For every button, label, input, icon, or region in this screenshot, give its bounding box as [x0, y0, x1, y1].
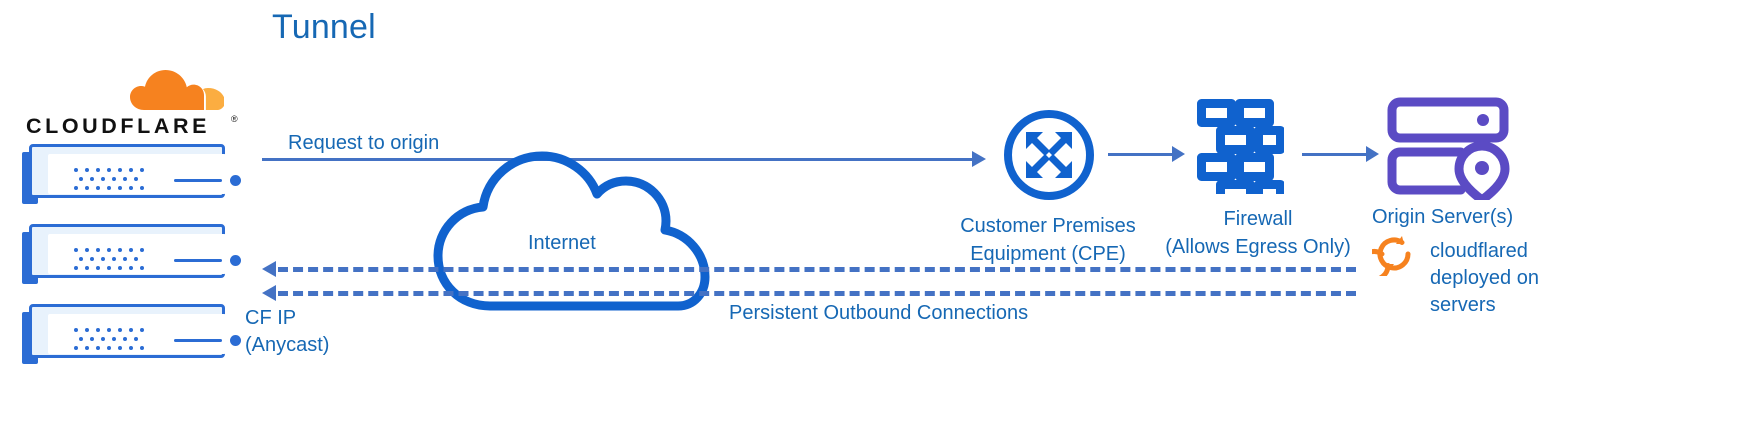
cf-ip-line1: CF IP — [245, 305, 329, 332]
router-status-line — [174, 179, 222, 182]
cloudflare-wordmark: CLOUDFLARE — [26, 114, 210, 139]
router-face — [48, 154, 226, 194]
router-face — [48, 314, 226, 354]
router-led-icon — [230, 175, 241, 186]
cloudflare-logo: CLOUDFLARE ® — [26, 74, 226, 144]
cpe-expand-arrows-icon — [1002, 108, 1096, 202]
router-status-line — [174, 259, 222, 262]
arrow-right-icon — [972, 151, 986, 167]
cf-ip-line2: (Anycast) — [245, 332, 329, 359]
diagram-canvas: Tunnel CLOUDFLARE ® — [0, 0, 1754, 422]
arrow-left-dashed-icon — [262, 285, 276, 301]
request-to-origin-label: Request to origin — [288, 132, 439, 155]
cpe-label: Customer Premises Equipment (CPE) — [948, 212, 1148, 268]
persistent-outbound-connections-label: Persistent Outbound Connections — [729, 302, 1028, 325]
router-body — [29, 144, 225, 198]
internet-cloud-icon — [430, 128, 720, 318]
cloudflared-line3: servers — [1430, 292, 1539, 319]
arrow-left-dashed-icon — [262, 261, 276, 277]
router-vent-dots — [74, 248, 156, 274]
persistent-connection-line — [278, 291, 1356, 296]
router-face — [48, 234, 226, 274]
arrow-right-icon — [1172, 146, 1185, 162]
router-body — [29, 304, 225, 358]
cloudflared-line1: cloudflared — [1430, 238, 1539, 265]
internet-label: Internet — [528, 232, 596, 255]
firewall-label: Firewall (Allows Egress Only) — [1158, 205, 1358, 261]
firewall-to-origin-line — [1302, 153, 1370, 156]
router-device-icon — [22, 224, 227, 282]
origin-server-icon — [1386, 96, 1514, 200]
cloudflare-cloud-icon — [104, 66, 224, 114]
page-title: Tunnel — [272, 8, 376, 47]
router-body — [29, 224, 225, 278]
router-device-icon — [22, 304, 227, 362]
cloudflared-refresh-icon — [1372, 232, 1418, 276]
firewall-label-line2: (Allows Egress Only) — [1158, 233, 1358, 261]
cpe-label-line2: Equipment (CPE) — [948, 240, 1148, 268]
origin-server-label: Origin Server(s) — [1372, 206, 1513, 229]
router-device-icon — [22, 144, 227, 202]
router-vent-dots — [74, 168, 156, 194]
registered-trademark-icon: ® — [231, 114, 238, 124]
router-led-icon — [230, 255, 241, 266]
router-status-line — [174, 339, 222, 342]
cpe-label-line1: Customer Premises — [948, 212, 1148, 240]
firewall-brick-wall-icon — [1196, 98, 1284, 194]
router-led-icon — [230, 335, 241, 346]
cf-ip-anycast-label: CF IP (Anycast) — [245, 305, 329, 359]
router-vent-dots — [74, 328, 156, 354]
cpe-to-firewall-line — [1108, 153, 1176, 156]
arrow-right-icon — [1366, 146, 1379, 162]
firewall-label-line1: Firewall — [1158, 205, 1358, 233]
persistent-connection-line — [278, 267, 1356, 272]
cloudflared-label: cloudflared deployed on servers — [1430, 238, 1539, 319]
cloudflared-line2: deployed on — [1430, 265, 1539, 292]
